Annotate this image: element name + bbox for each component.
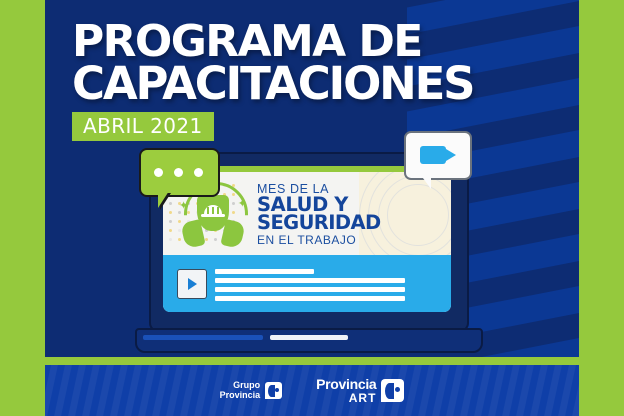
screen-lower-panel [163,255,451,312]
chat-dots-icon [139,148,220,197]
grupo-logo-line-2: Provincia [220,391,261,400]
art-logo-line-2: ART [316,392,376,404]
right-green-border [579,0,624,416]
title-line-2: CAPACITACIONES [72,63,492,105]
provincia-art-logo[interactable]: Provincia ART [316,377,404,404]
campaign-line-3: SEGURIDAD [257,214,451,233]
placeholder-text-lines [215,269,405,305]
provincia-mark-icon [381,379,404,402]
play-icon[interactable] [177,269,207,299]
laptop-base-highlight [143,335,263,340]
video-camera-icon [404,131,472,180]
art-logo-line-1: Provincia [316,377,376,391]
campaign-line-4: EN EL TRABAJO [257,233,451,247]
poster-canvas: PROGRAMA DE CAPACITACIONES ABRIL 2021 [0,0,624,416]
page-title: PROGRAMA DE CAPACITACIONES ABRIL 2021 [72,22,492,141]
provincia-mark-icon [265,382,282,399]
grupo-provincia-logo[interactable]: Grupo Provincia [220,381,283,399]
date-badge: ABRIL 2021 [72,112,214,141]
laptop-base [135,328,483,353]
footer-bar: Grupo Provincia Provincia ART [45,365,579,416]
